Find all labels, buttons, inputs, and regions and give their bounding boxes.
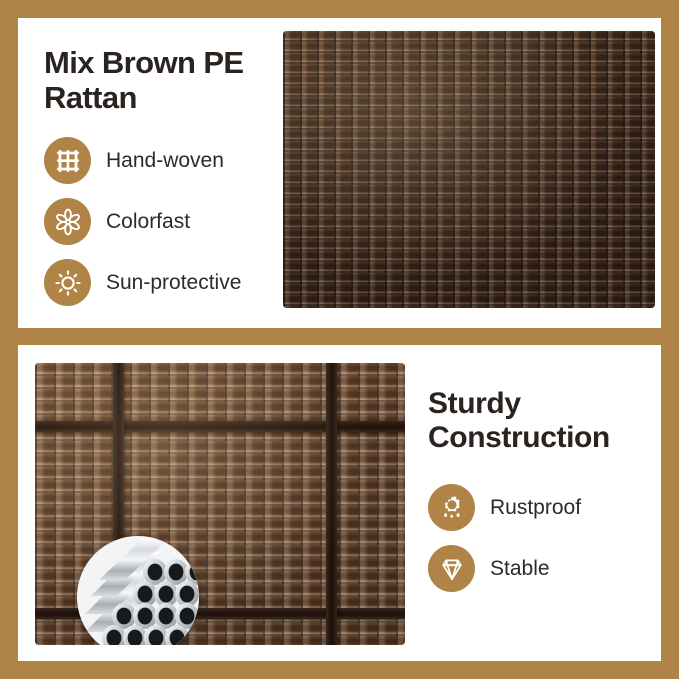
feature-list-construction: Rustproof Stable [428, 484, 658, 592]
frame-bar-vertical [326, 363, 337, 645]
feature-hand-woven: Hand-woven [44, 137, 284, 184]
gear-droplet-icon [428, 484, 475, 531]
rattan-frame-photo [35, 363, 405, 645]
feature-rustproof: Rustproof [428, 484, 658, 531]
diamond-icon [428, 545, 475, 592]
infographic-root: Mix Brown PE Rattan [0, 0, 679, 679]
lattice-weave-icon [44, 137, 91, 184]
frame-bar-horizontal [35, 421, 405, 432]
feature-label: Hand-woven [106, 149, 224, 173]
feature-sun-protective: Sun-protective [44, 259, 284, 306]
panel-mix-brown-pe-rattan: Mix Brown PE Rattan [18, 18, 661, 328]
panel-sturdy-construction: Sturdy Construction [18, 345, 661, 661]
section-title: Sturdy Construction [428, 387, 658, 454]
sun-icon [44, 259, 91, 306]
feature-stable: Stable [428, 545, 658, 592]
brown-pe-rattan-weave-photo [283, 31, 655, 308]
feature-colorfast: Colorfast [44, 198, 284, 245]
feature-list-rattan: Hand-woven [44, 137, 284, 306]
flower-icon [44, 198, 91, 245]
rattan-weave-texture [283, 31, 655, 308]
top-text-column: Mix Brown PE Rattan [44, 46, 284, 320]
feature-label: Colorfast [106, 210, 190, 234]
feature-label: Stable [490, 557, 550, 581]
feature-label: Rustproof [490, 496, 581, 520]
page-title: Mix Brown PE Rattan [44, 46, 284, 115]
feature-label: Sun-protective [106, 271, 241, 295]
bottom-text-column: Sturdy Construction [428, 387, 658, 606]
